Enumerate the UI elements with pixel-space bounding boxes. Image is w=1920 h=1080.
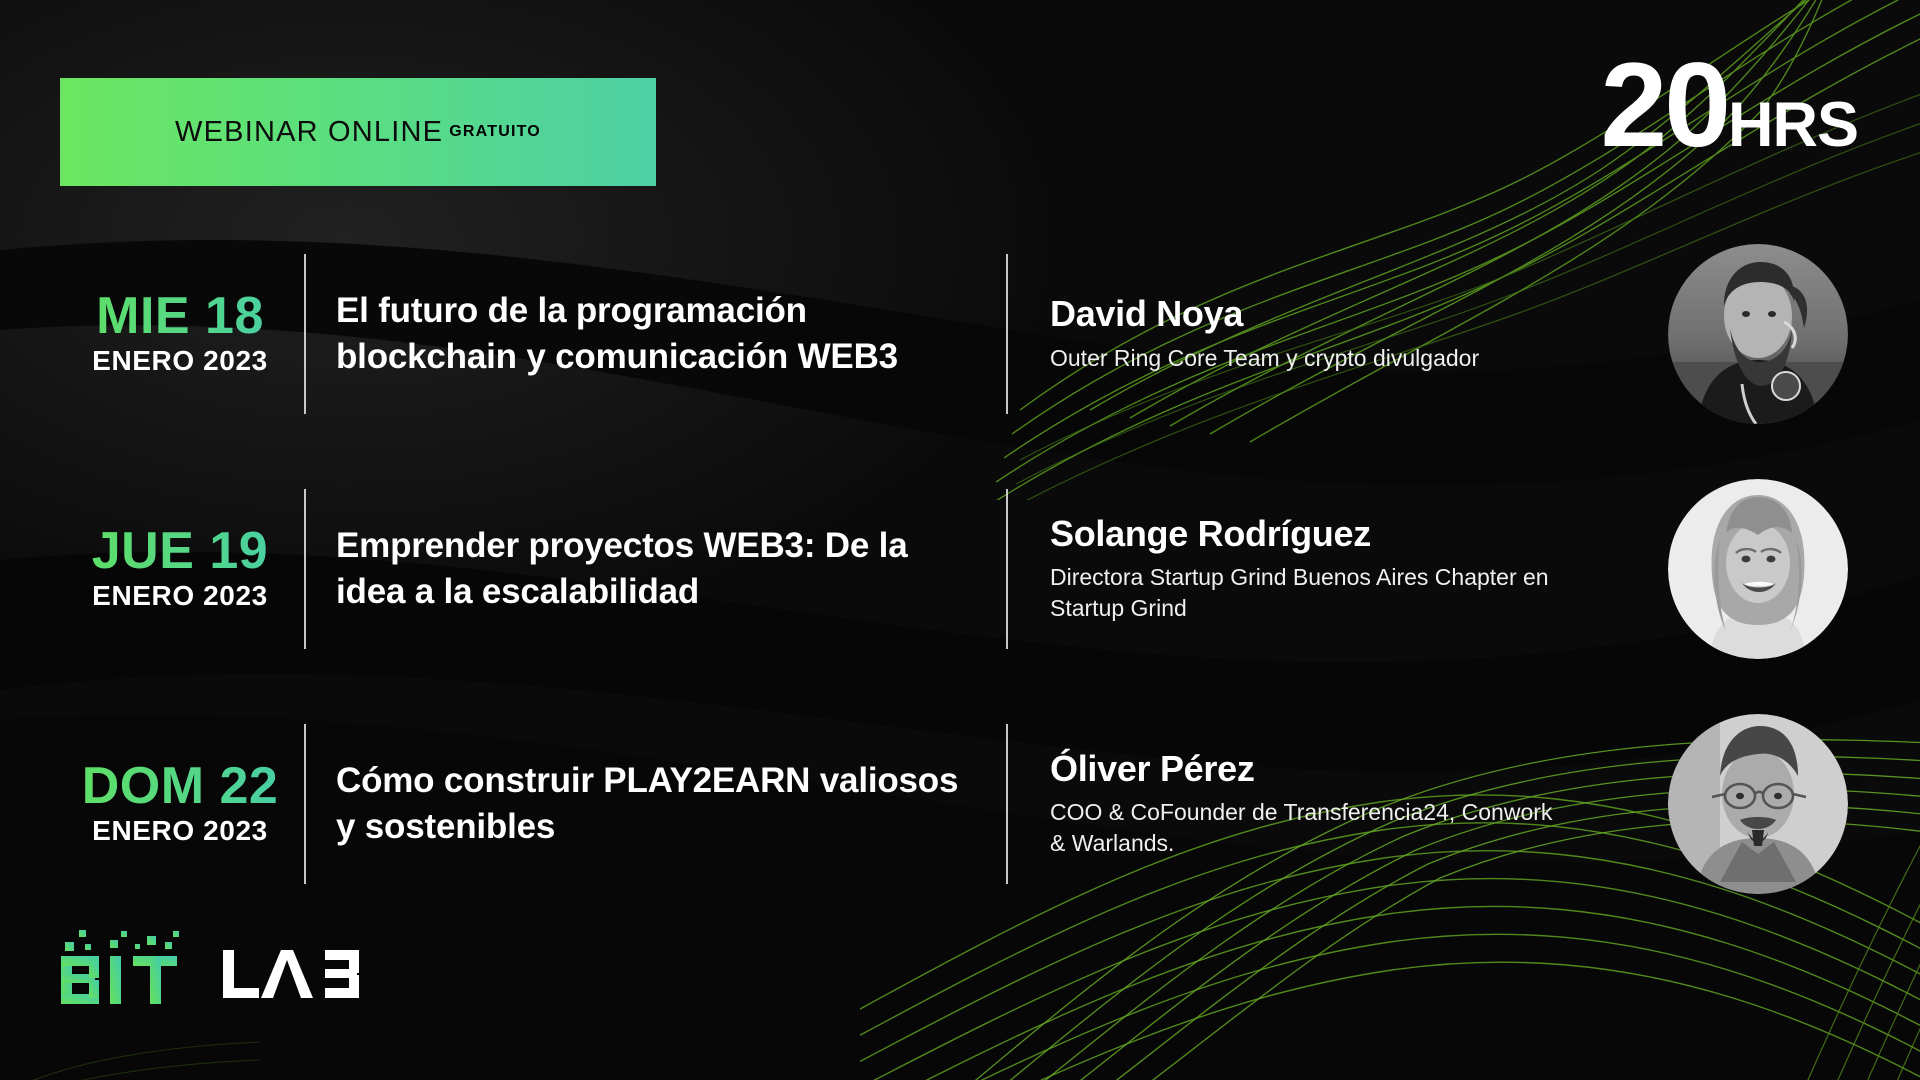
time-badge: 20 HRS [1601, 48, 1859, 162]
session-date: DOM 22 ENERO 2023 [0, 760, 300, 847]
session-month-year: ENERO 2023 [60, 815, 300, 847]
webinar-banner: WEBINAR ONLINEGRATUITO [60, 78, 656, 186]
session-month-year: ENERO 2023 [60, 345, 300, 377]
session-date: MIE 18 ENERO 2023 [0, 290, 300, 377]
time-badge-number: 20 [1601, 48, 1728, 162]
speaker-role: Directora Startup Grind Buenos Aires Cha… [1050, 562, 1570, 623]
session-row: MIE 18 ENERO 2023 El futuro de la progra… [0, 216, 1920, 451]
session-title: Cómo construir PLAY2EARN valiosos y sost… [336, 758, 978, 849]
session-title: El futuro de la programación blockchain … [336, 288, 978, 379]
lab-logo-word-icon [221, 946, 371, 1008]
session-row: JUE 19 ENERO 2023 Emprender proyectos WE… [0, 451, 1920, 686]
session-date: JUE 19 ENERO 2023 [0, 525, 300, 612]
banner-prefix-text: WEBINAR ONLINE [175, 116, 443, 149]
speaker-avatar [1668, 714, 1848, 894]
divider-date-title [304, 254, 306, 414]
speaker-avatar [1668, 479, 1848, 659]
divider-title-speaker [1006, 724, 1008, 884]
bit-logo-mark-icon [55, 922, 195, 1008]
poster-canvas: WEBINAR ONLINEGRATUITO 20 HRS MIE 18 ENE… [0, 0, 1920, 1080]
session-title: Emprender proyectos WEB3: De la idea a l… [336, 523, 978, 614]
bitlab-logo [55, 922, 371, 1008]
divider-date-title [304, 724, 306, 884]
session-title-wrap: El futuro de la programación blockchain … [306, 288, 1006, 379]
session-row: DOM 22 ENERO 2023 Cómo construir PLAY2EA… [0, 686, 1920, 921]
speaker-role: Outer Ring Core Team y crypto divulgador [1050, 343, 1570, 373]
divider-title-speaker [1006, 254, 1008, 414]
session-day-label: MIE 18 [60, 290, 300, 343]
session-month-year: ENERO 2023 [60, 580, 300, 612]
banner-highlight-text: GRATUITO [449, 123, 541, 141]
time-badge-unit: HRS [1728, 89, 1858, 161]
session-day-label: JUE 19 [60, 525, 300, 578]
session-day-label: DOM 22 [60, 760, 300, 813]
divider-title-speaker [1006, 489, 1008, 649]
sessions-list: MIE 18 ENERO 2023 El futuro de la progra… [0, 216, 1920, 921]
session-title-wrap: Emprender proyectos WEB3: De la idea a l… [306, 523, 1006, 614]
speaker-role: COO & CoFounder de Transferencia24, Conw… [1050, 797, 1570, 858]
session-title-wrap: Cómo construir PLAY2EARN valiosos y sost… [306, 758, 1006, 849]
speaker-avatar [1668, 244, 1848, 424]
divider-date-title [304, 489, 306, 649]
